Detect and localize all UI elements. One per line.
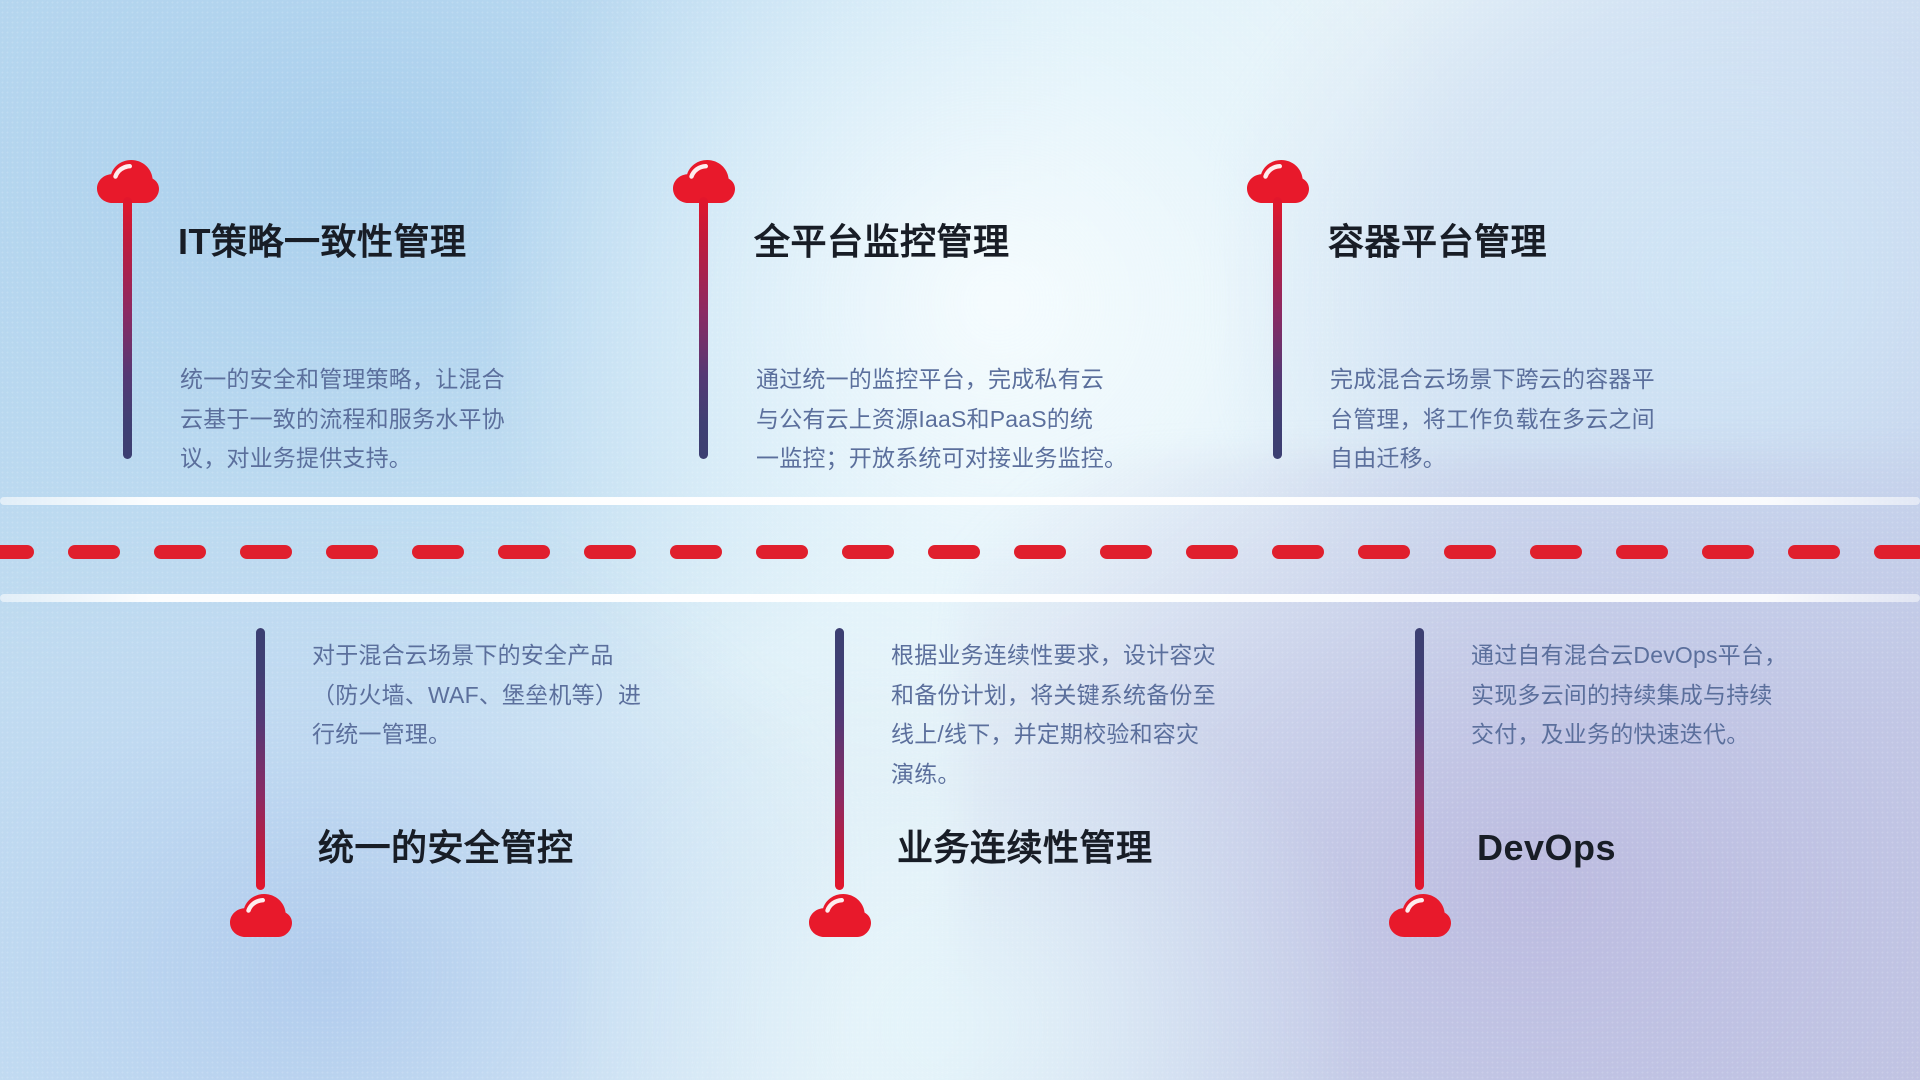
body-line: 通过统一的监控平台，完成私有云 — [756, 360, 1196, 400]
divider-dash — [842, 545, 894, 559]
divider-band-upper — [0, 497, 1920, 505]
cloud-icon — [1389, 894, 1451, 938]
connector-line — [699, 197, 708, 459]
divider-dash — [0, 545, 34, 559]
divider-dash — [1874, 545, 1920, 559]
infographic-canvas: IT策略一致性管理 统一的安全和管理策略，让混合 云基于一致的流程和服务水平协 … — [0, 0, 1920, 1080]
body-line: 云基于一致的流程和服务水平协 — [180, 400, 610, 440]
body-line: 通过自有混合云DevOps平台， — [1471, 636, 1891, 676]
divider-dash — [412, 545, 464, 559]
bottom-column-1-heading: 统一的安全管控 — [318, 826, 574, 869]
body-line: 议，对业务提供支持。 — [180, 439, 610, 479]
divider-dash — [670, 545, 722, 559]
divider-dash — [1100, 545, 1152, 559]
body-line: 与公有云上资源IaaS和PaaS的统 — [756, 400, 1196, 440]
body-line: （防火墙、WAF、堡垒机等）进 — [312, 676, 742, 716]
body-line: 根据业务连续性要求，设计容灾 — [891, 636, 1321, 676]
divider-dash — [498, 545, 550, 559]
divider-dash — [1702, 545, 1754, 559]
divider-dash — [1186, 545, 1238, 559]
divider-dash — [240, 545, 292, 559]
divider-dash — [154, 545, 206, 559]
bottom-column-1-body: 对于混合云场景下的安全产品 （防火墙、WAF、堡垒机等）进 行统一管理。 — [312, 636, 742, 755]
top-column-1-heading: IT策略一致性管理 — [178, 220, 467, 263]
divider-dash — [1616, 545, 1668, 559]
body-line: 统一的安全和管理策略，让混合 — [180, 360, 610, 400]
top-column-1-body: 统一的安全和管理策略，让混合 云基于一致的流程和服务水平协 议，对业务提供支持。 — [180, 360, 610, 479]
body-line: 行统一管理。 — [312, 715, 742, 755]
body-line: 演练。 — [891, 755, 1321, 795]
top-column-2-heading: 全平台监控管理 — [754, 220, 1010, 263]
divider-dash — [1444, 545, 1496, 559]
divider-dash — [584, 545, 636, 559]
divider-dash — [1530, 545, 1582, 559]
body-line: 实现多云间的持续集成与持续 — [1471, 676, 1891, 716]
bottom-column-2-heading: 业务连续性管理 — [897, 826, 1153, 869]
connector-line — [1415, 628, 1424, 890]
bottom-column-3-heading: DevOps — [1477, 826, 1616, 869]
divider-band-lower — [0, 594, 1920, 602]
bottom-column-2-body: 根据业务连续性要求，设计容灾 和备份计划，将关键系统备份至 线上/线下，并定期校… — [891, 636, 1321, 794]
top-column-3-body: 完成混合云场景下跨云的容器平 台管理，将工作负载在多云之间 自由迁移。 — [1330, 360, 1760, 479]
divider-dash — [1272, 545, 1324, 559]
connector-line — [256, 628, 265, 890]
divider-dash — [756, 545, 808, 559]
top-column-3-heading: 容器平台管理 — [1328, 220, 1547, 263]
connector-line — [123, 197, 132, 459]
cloud-icon — [809, 894, 871, 938]
body-line: 台管理，将工作负载在多云之间 — [1330, 400, 1760, 440]
top-column-2-body: 通过统一的监控平台，完成私有云 与公有云上资源IaaS和PaaS的统 一监控；开… — [756, 360, 1196, 479]
cloud-icon — [230, 894, 292, 938]
connector-line — [835, 628, 844, 890]
body-line: 完成混合云场景下跨云的容器平 — [1330, 360, 1760, 400]
body-line: 线上/线下，并定期校验和容灾 — [891, 715, 1321, 755]
body-line: 和备份计划，将关键系统备份至 — [891, 676, 1321, 716]
dashed-red-divider — [0, 545, 1920, 559]
divider-dash — [1358, 545, 1410, 559]
connector-line — [1273, 197, 1282, 459]
body-line: 自由迁移。 — [1330, 439, 1760, 479]
divider-dash — [1014, 545, 1066, 559]
divider-dash — [1788, 545, 1840, 559]
divider-dash — [326, 545, 378, 559]
body-line: 对于混合云场景下的安全产品 — [312, 636, 742, 676]
divider-dash — [68, 545, 120, 559]
divider-dash — [928, 545, 980, 559]
body-line: 交付，及业务的快速迭代。 — [1471, 715, 1891, 755]
body-line: 一监控；开放系统可对接业务监控。 — [756, 439, 1196, 479]
bottom-column-3-body: 通过自有混合云DevOps平台， 实现多云间的持续集成与持续 交付，及业务的快速… — [1471, 636, 1891, 755]
